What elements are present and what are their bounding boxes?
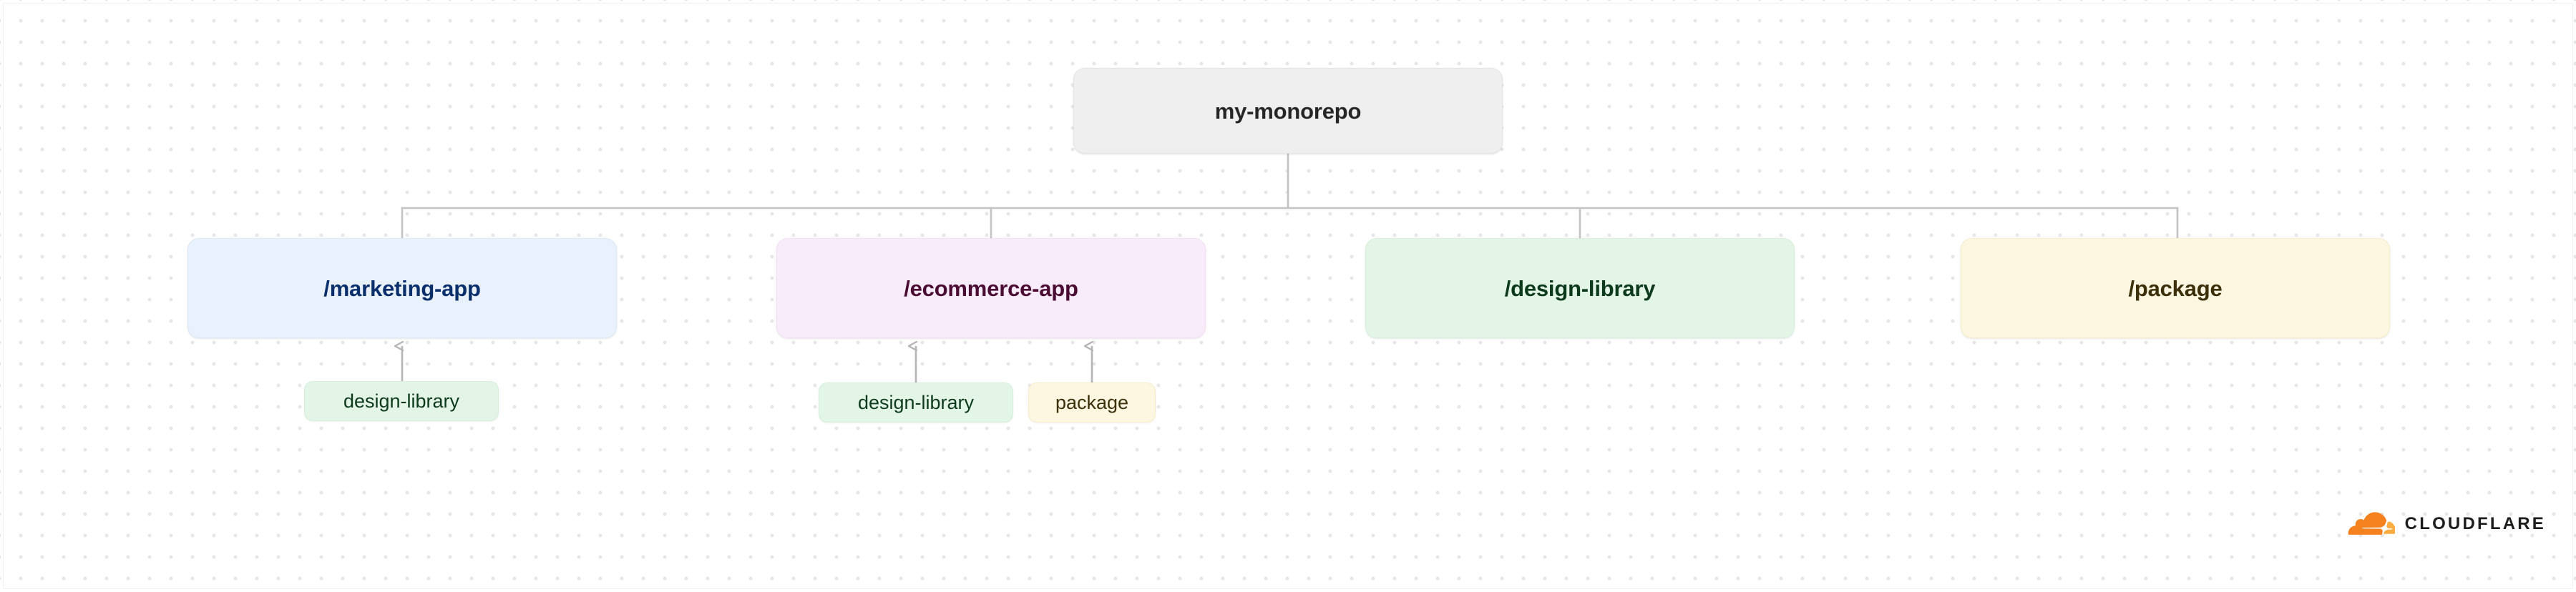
cloudflare-cloud-icon — [2341, 512, 2395, 536]
cloud-main — [2348, 512, 2386, 534]
dependency-tag-label: design-library — [343, 392, 459, 411]
node-label-marketing-app: /marketing-app — [323, 277, 480, 300]
node-label-my-monorepo: my-monorepo — [1215, 100, 1361, 122]
node-design-library[interactable]: /design-library — [1365, 238, 1795, 338]
cloudflare-logo: CLOUDFLARE — [2341, 512, 2546, 536]
node-label-design-library: /design-library — [1505, 277, 1656, 300]
node-package[interactable]: /package — [1961, 238, 2390, 338]
dependency-tag-ecommerce-design-library[interactable]: design-library — [819, 383, 1013, 423]
dependency-tag-ecommerce-package[interactable]: package — [1028, 383, 1156, 423]
node-ecommerce-app[interactable]: /ecommerce-app — [776, 238, 1206, 338]
dependency-arrows — [402, 346, 1092, 383]
diagram-canvas[interactable]: my-monorepo /marketing-app /ecommerce-ap… — [0, 0, 2576, 592]
node-marketing-app[interactable]: /marketing-app — [187, 238, 617, 338]
node-label-ecommerce-app: /ecommerce-app — [904, 277, 1078, 300]
cloudflare-wordmark: CLOUDFLARE — [2405, 515, 2546, 533]
dependency-tag-marketing-design-library[interactable]: design-library — [304, 381, 499, 421]
node-label-package: /package — [2128, 277, 2222, 300]
dependency-tag-label: package — [1055, 393, 1128, 413]
node-my-monorepo[interactable]: my-monorepo — [1073, 68, 1503, 154]
tree-connectors — [402, 154, 2177, 238]
dependency-tag-label: design-library — [858, 393, 974, 413]
